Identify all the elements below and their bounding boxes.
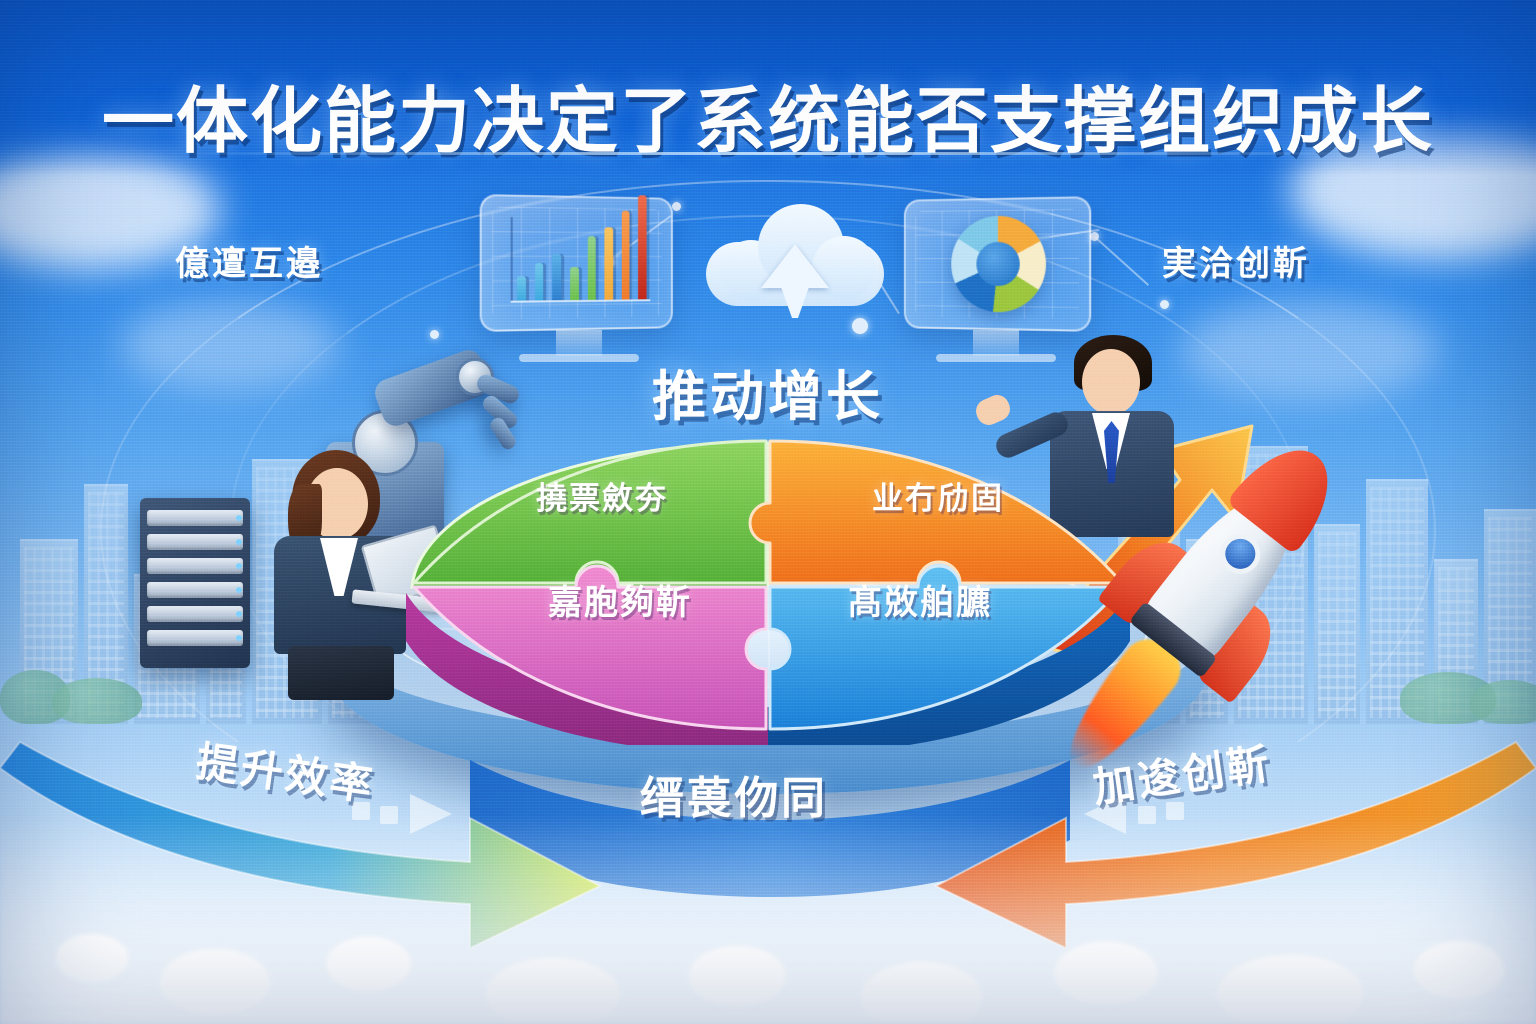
network-node: [852, 318, 868, 334]
headline-divider: [178, 152, 1358, 155]
infographic-canvas: 一体化能力决定了系统能否支撑组织成长 億邅互邉 実洽创靳: [0, 0, 1536, 1024]
server-led: [236, 635, 242, 641]
server-slot: [147, 630, 243, 646]
server-led: [236, 515, 242, 521]
bar: [535, 263, 544, 301]
network-node: [1160, 300, 1169, 309]
server-led: [236, 563, 242, 569]
cloud-upload-icon: [700, 196, 890, 316]
bar: [570, 267, 579, 300]
label-top-left: 億邅互邉: [175, 236, 323, 285]
chart-y-axis: [511, 217, 513, 301]
server-slot: [147, 558, 243, 574]
bar-chart-screen-icon: [480, 194, 673, 332]
bar: [638, 196, 646, 300]
bar: [517, 276, 526, 301]
network-node: [672, 202, 681, 211]
server-slot: [147, 606, 243, 622]
server-slot: [147, 510, 243, 526]
cloud-upload-arrow-head: [761, 244, 829, 288]
center-title: 推动增长: [0, 352, 1536, 431]
donut-chart-screen-icon: [904, 196, 1091, 332]
server-led: [236, 539, 242, 545]
bar: [587, 236, 595, 300]
server-slot: [147, 582, 243, 598]
server-led: [236, 587, 242, 593]
server-rack-icon: [140, 498, 250, 668]
label-top-right: 実洽创靳: [1162, 236, 1310, 285]
server-slot: [147, 534, 243, 550]
server-led: [236, 611, 242, 617]
bar: [552, 254, 561, 301]
bar: [605, 228, 613, 300]
donut-chart: [951, 215, 1046, 312]
puzzle-top-right-shape[interactable]: [750, 441, 1122, 583]
cloud-bank-foreground: [0, 724, 1536, 1024]
bar: [622, 210, 630, 299]
bar-series: [517, 189, 647, 301]
